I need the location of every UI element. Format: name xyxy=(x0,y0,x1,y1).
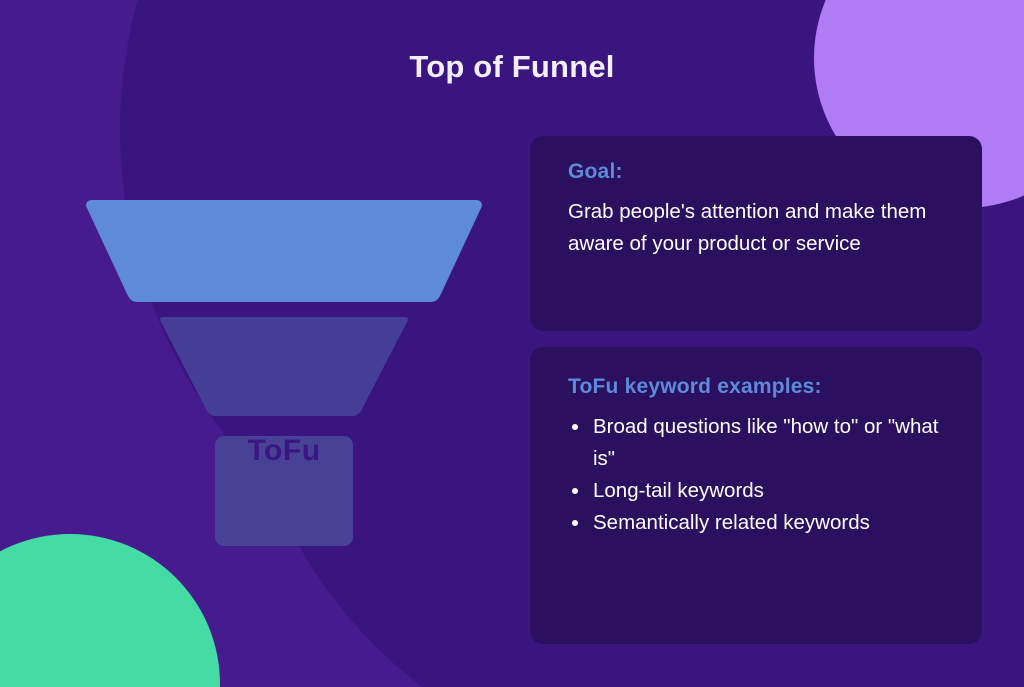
keyword-examples-card: ToFu keyword examples: Broad questions l… xyxy=(530,347,982,644)
goal-card-heading: Goal: xyxy=(568,160,948,184)
funnel-segment-top xyxy=(86,200,482,302)
funnel-segment-middle xyxy=(160,317,408,416)
list-item: Broad questions like "how to" or "what i… xyxy=(568,411,952,475)
keyword-examples-heading: ToFu keyword examples: xyxy=(568,375,952,399)
slide-canvas: Top of Funnel ToFu Goal: Grab people's a… xyxy=(0,0,1024,687)
list-item: Semantically related keywords xyxy=(568,507,952,539)
list-item: Long-tail keywords xyxy=(568,475,952,507)
page-title: Top of Funnel xyxy=(0,49,1024,85)
goal-card-body: Grab people's attention and make them aw… xyxy=(568,196,948,260)
funnel-diagram: ToFu xyxy=(64,196,504,550)
goal-card: Goal: Grab people's attention and make t… xyxy=(530,136,982,331)
keyword-examples-list: Broad questions like "how to" or "what i… xyxy=(568,411,952,539)
green-circle-shape xyxy=(0,534,220,687)
funnel-segment-bottom xyxy=(215,436,353,546)
